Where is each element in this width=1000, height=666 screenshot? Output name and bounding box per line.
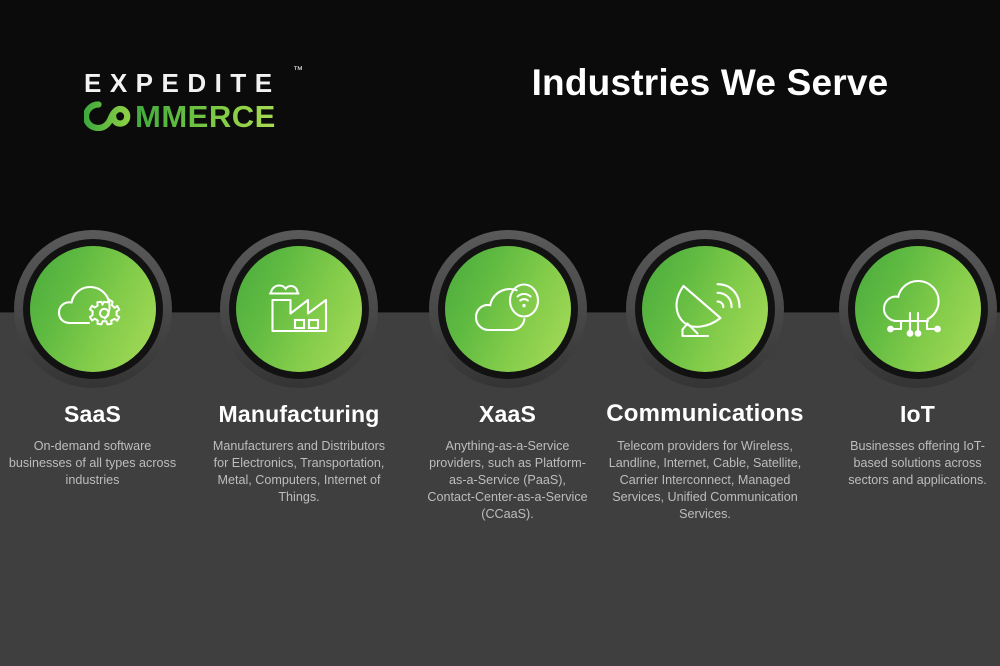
badge-saas bbox=[14, 230, 172, 380]
brand-logo-commerce-row: MMERCE bbox=[84, 99, 294, 133]
card-description-saas: On-demand software businesses of all typ… bbox=[0, 438, 185, 489]
industry-card-iot[interactable]: IoT Businesses offering IoT-based soluti… bbox=[835, 230, 1000, 560]
badge-disc bbox=[445, 246, 571, 372]
page-title: Industries We Serve bbox=[460, 62, 960, 104]
badge-disc bbox=[236, 246, 362, 372]
card-title-manufacturing: Manufacturing bbox=[199, 401, 399, 427]
cloud-gear-icon bbox=[56, 279, 130, 339]
badge-xaas bbox=[429, 230, 587, 380]
trademark-symbol: ™ bbox=[293, 65, 303, 76]
slide-root: EXPEDITE ™ MMERCE Industries We Serve bbox=[0, 0, 1000, 666]
card-description-iot: Businesses offering IoT-based solutions … bbox=[835, 438, 1000, 489]
card-title-xaas: XaaS bbox=[415, 401, 600, 427]
card-description-xaas: Anything-as-a-Service providers, such as… bbox=[415, 438, 600, 523]
cloud-wifi-icon bbox=[472, 278, 544, 340]
badge-iot bbox=[839, 230, 997, 380]
slide-header: EXPEDITE ™ MMERCE Industries We Serve bbox=[0, 0, 1000, 200]
cloud-nodes-icon bbox=[880, 277, 956, 341]
brand-logo: EXPEDITE ™ MMERCE bbox=[84, 68, 294, 134]
badge-manufacturing bbox=[220, 230, 378, 380]
badge-disc bbox=[855, 246, 981, 372]
industry-card-communications[interactable]: Communications Telecom providers for Wir… bbox=[590, 230, 820, 560]
badge-communications bbox=[626, 230, 784, 380]
brand-logo-commerce: MMERCE bbox=[135, 101, 276, 132]
badge-disc bbox=[642, 246, 768, 372]
card-title-saas: SaaS bbox=[0, 401, 185, 427]
infinity-logo-icon bbox=[84, 101, 134, 131]
card-description-communications: Telecom providers for Wireless, Landline… bbox=[590, 438, 820, 523]
card-title-iot: IoT bbox=[835, 401, 1000, 427]
industry-card-xaas[interactable]: XaaS Anything-as-a-Service providers, su… bbox=[415, 230, 600, 560]
brand-logo-expedite: EXPEDITE bbox=[84, 68, 294, 98]
badge-disc bbox=[30, 246, 156, 372]
factory-icon bbox=[264, 278, 334, 340]
card-description-manufacturing: Manufacturers and Distributors for Elect… bbox=[199, 438, 399, 506]
industry-card-list: SaaS On-demand software businesses of al… bbox=[0, 230, 1000, 560]
industry-card-saas[interactable]: SaaS On-demand software businesses of al… bbox=[0, 230, 185, 560]
industry-card-manufacturing[interactable]: Manufacturing Manufacturers and Distribu… bbox=[199, 230, 399, 560]
card-title-communications: Communications bbox=[590, 401, 820, 427]
satellite-dish-icon bbox=[669, 277, 741, 341]
